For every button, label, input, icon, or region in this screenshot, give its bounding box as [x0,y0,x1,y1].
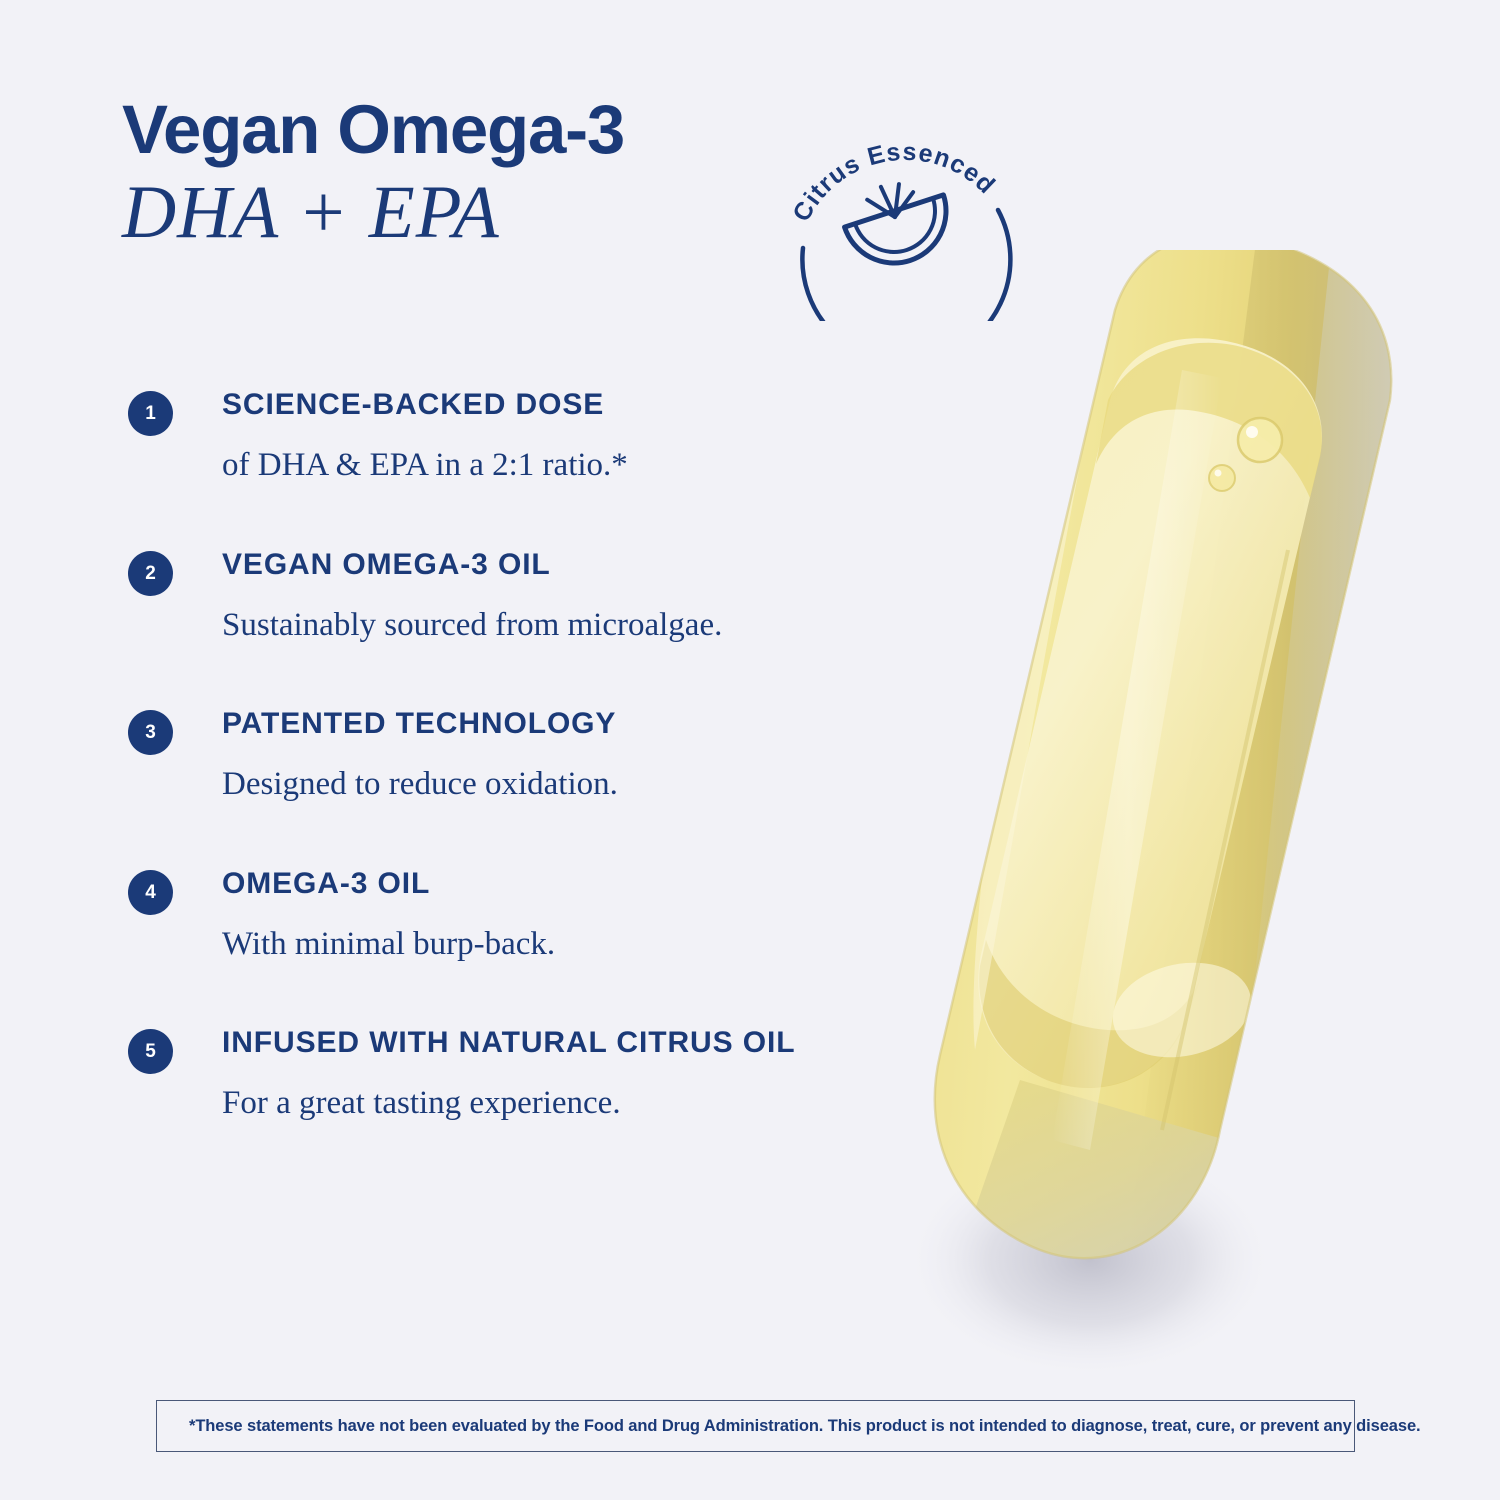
feature-number-badge: 2 [128,551,173,596]
feature-number-badge: 3 [128,710,173,755]
feature-heading: VEGAN OMEGA-3 OIL [222,548,928,581]
feature-list: 1 SCIENCE-BACKED DOSE of DHA & EPA in a … [128,388,928,1124]
feature-item-2: 2 VEGAN OMEGA-3 OIL Sustainably sourced … [128,548,928,646]
capsule-shadow [905,1142,1275,1378]
feature-number-badge: 1 [128,391,173,436]
feature-heading: SCIENCE-BACKED DOSE [222,388,928,421]
headline-block: Vegan Omega-3 DHA + EPA [122,95,822,258]
feature-body: of DHA & EPA in a 2:1 ratio.* [222,446,928,486]
feature-item-3: 3 PATENTED TECHNOLOGY Designed to reduce… [128,707,928,805]
page-title-secondary: DHA + EPA [122,169,822,258]
disclaimer-box: *These statements have not been evaluate… [156,1400,1355,1452]
feature-number-badge: 5 [128,1029,173,1074]
feature-body: For a great tasting experience. [222,1084,928,1124]
feature-heading: INFUSED WITH NATURAL CITRUS OIL [222,1026,928,1059]
badge-ring-arc [802,210,1010,321]
feature-number-badge: 4 [128,870,173,915]
feature-heading: OMEGA-3 OIL [222,867,928,900]
page-title-primary: Vegan Omega-3 [122,95,822,165]
capsule-body [935,250,1450,1310]
citrus-wedge-icon [836,169,959,276]
disclaimer-text: *These statements have not been evaluate… [157,1417,1421,1436]
feature-body: With minimal burp-back. [222,925,928,965]
feature-heading: PATENTED TECHNOLOGY [222,707,928,740]
citrus-essenced-badge: Citrus Essenced [776,106,1026,321]
feature-body: Designed to reduce oxidation. [222,765,928,805]
feature-body: Sustainably sourced from microalgae. [222,606,928,646]
feature-item-5: 5 INFUSED WITH NATURAL CITRUS OIL For a … [128,1026,928,1124]
feature-item-4: 4 OMEGA-3 OIL With minimal burp-back. [128,867,928,965]
feature-item-1: 1 SCIENCE-BACKED DOSE of DHA & EPA in a … [128,388,928,486]
capsule-air-bubbles [1209,418,1282,491]
